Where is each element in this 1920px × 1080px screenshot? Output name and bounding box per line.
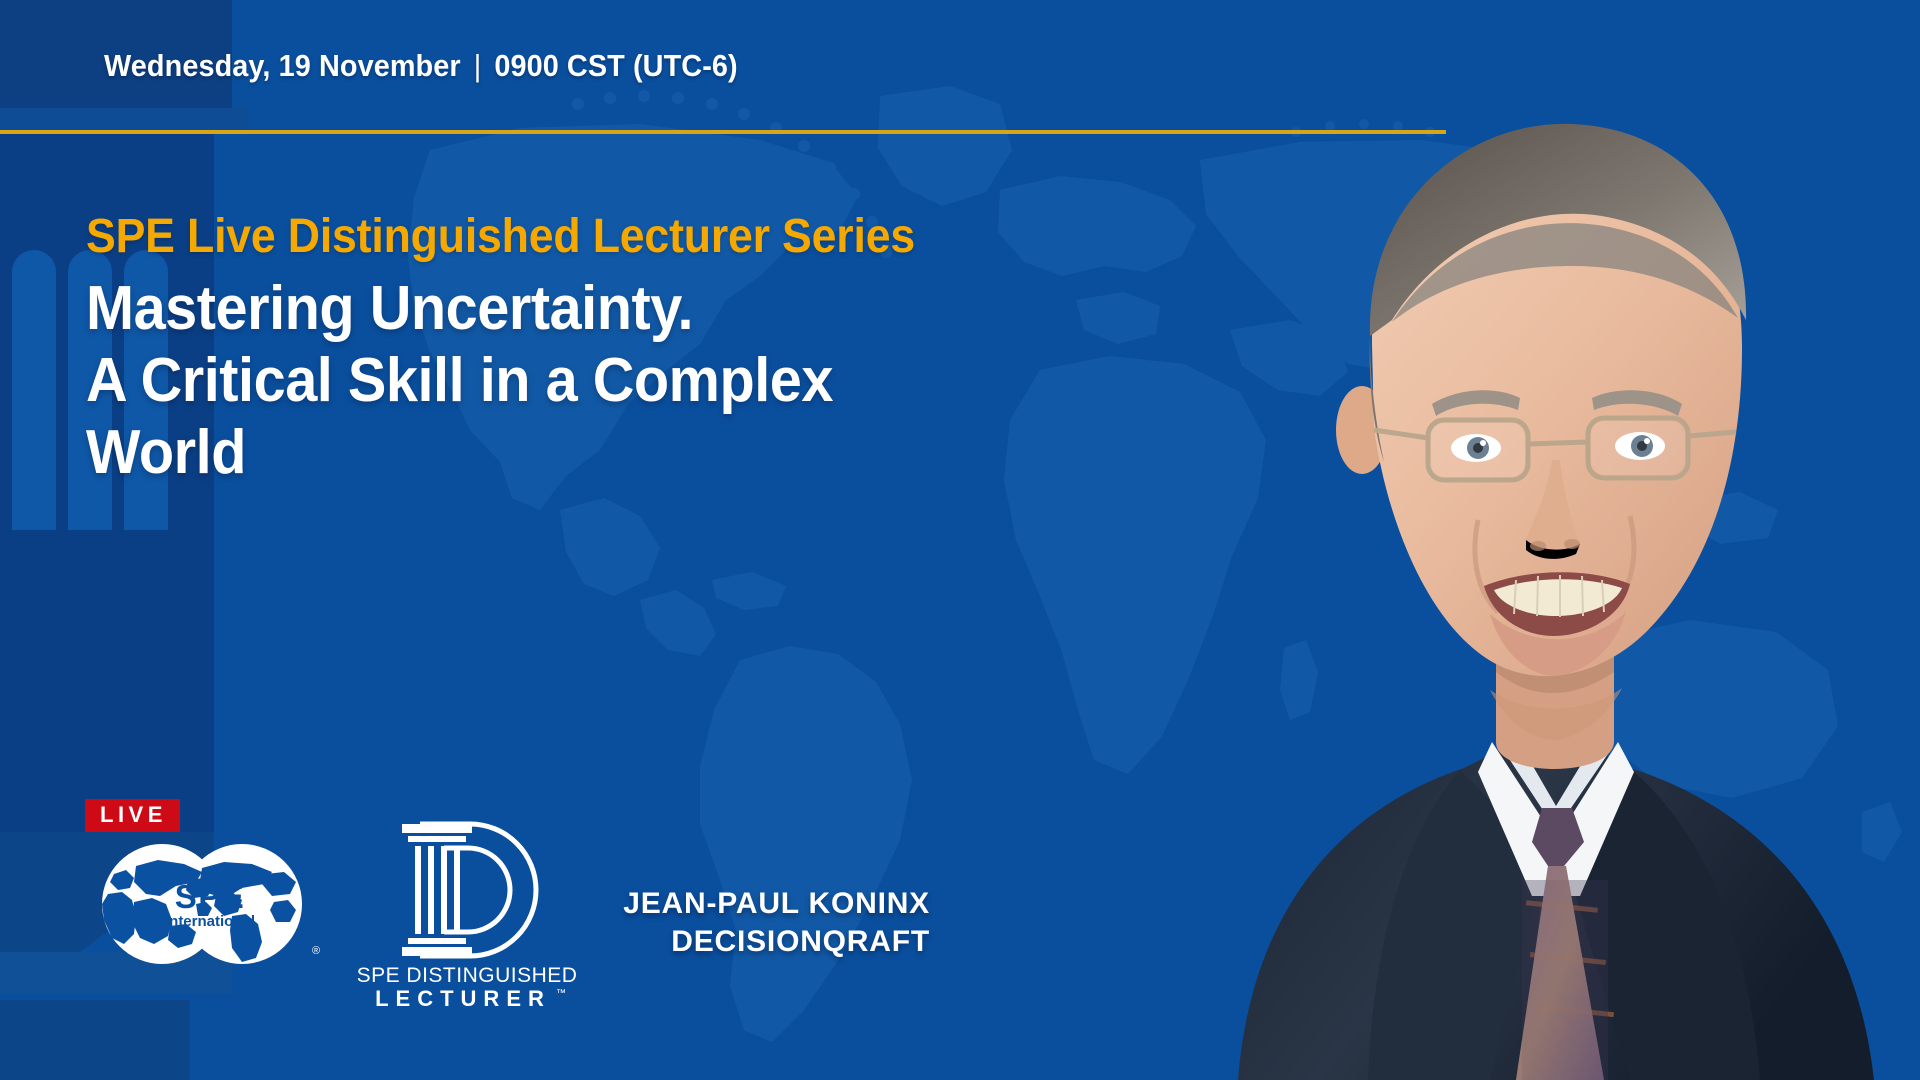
page-title: Mastering Uncertainty. A Critical Skill … [86,273,1128,489]
headline-block: SPE Live Distinguished Lecturer Series M… [86,212,1206,489]
datetime-separator: | [461,48,495,84]
svg-text:LECTURER: LECTURER [375,986,551,1011]
svg-text:International: International [165,913,255,930]
event-datetime: Wednesday, 19 November|0900 CST (UTC-6) [104,48,738,84]
svg-text:®: ® [312,945,320,957]
title-line-2: A Critical Skill in a Complex [86,345,1128,417]
speaker-portrait-photo [1160,0,1920,1080]
title-line-1: Mastering Uncertainty. [86,273,1128,345]
svg-text:™: ™ [556,988,566,999]
speaker-name: JEAN-PAUL KONINX [623,885,930,923]
title-line-3: World [86,417,1128,489]
spe-international-globes-logo: SPE International ® [90,840,330,968]
event-promo-banner: Wednesday, 19 November|0900 CST (UTC-6) … [0,0,1920,1080]
gold-divider-rule [0,130,1446,134]
live-badge: LIVE [85,799,180,832]
event-time: 0900 CST (UTC-6) [494,48,737,83]
svg-text:SPE DISTINGUISHED: SPE DISTINGUISHED [358,964,576,987]
top-date-bar: Wednesday, 19 November|0900 CST (UTC-6) [0,0,1920,132]
series-eyebrow: SPE Live Distinguished Lecturer Series [86,212,1128,263]
distinguished-lecturer-column-d-logo: SPE DISTINGUISHED LECTURER ™ [358,798,576,1016]
event-date: Wednesday, 19 November [104,48,461,83]
speaker-organization: DECISIONQRAFT [623,923,930,961]
speaker-credit: JEAN-PAUL KONINX DECISIONQRAFT [623,885,930,962]
svg-text:SPE: SPE [175,878,246,915]
